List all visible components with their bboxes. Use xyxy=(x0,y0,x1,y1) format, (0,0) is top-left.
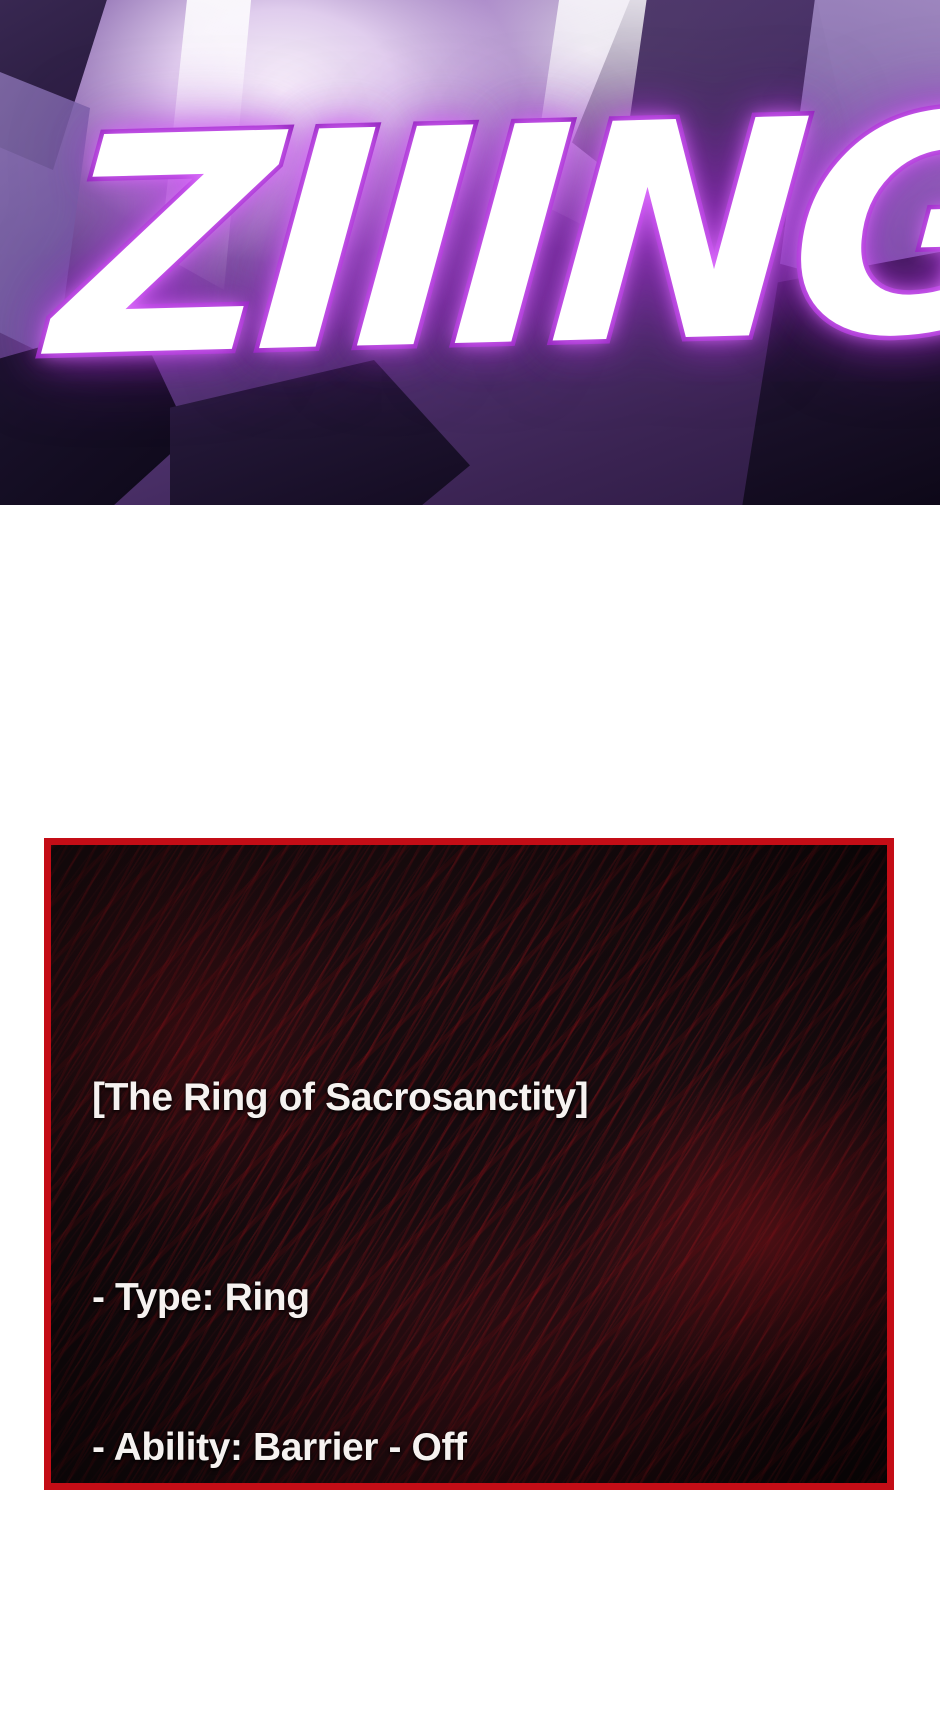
item-title: [The Ring of Sacrosanctity] xyxy=(92,1073,875,1123)
item-type-line: - Type: Ring xyxy=(92,1273,875,1323)
top-action-panel: ZIIING xyxy=(0,0,940,505)
item-ability-line: - Ability: Barrier - Off xyxy=(92,1423,875,1473)
item-window-text-block: [The Ring of Sacrosanctity] - Type: Ring… xyxy=(92,973,875,1490)
system-item-status-window: [The Ring of Sacrosanctity] - Type: Ring… xyxy=(44,838,894,1490)
